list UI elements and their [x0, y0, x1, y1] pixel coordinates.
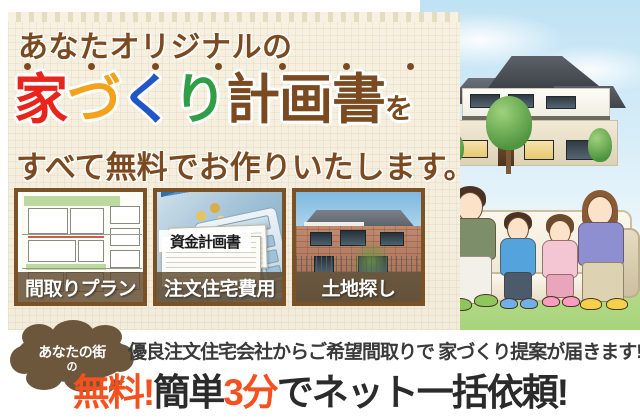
- headline-char-ri: り: [173, 70, 226, 130]
- cta-part-three-minutes: 3分: [223, 372, 277, 413]
- tree-icon: [486, 96, 532, 150]
- feature-card-floor-plan[interactable]: 間取りプラン: [14, 188, 147, 306]
- document-title: 資金計画書: [159, 230, 251, 252]
- emphasis-dot: [343, 63, 350, 70]
- headline-particle-wo: を: [385, 93, 412, 124]
- headline-word-keikakusho: 計画書: [226, 70, 385, 130]
- cta-part-easy: 簡単: [153, 372, 223, 413]
- legs: [546, 274, 574, 298]
- headline-line-3: すべて無料でお作りいたします。: [16, 142, 475, 187]
- emphasis-dot: [407, 63, 414, 70]
- shoe: [520, 298, 538, 309]
- window-icon: [524, 140, 554, 160]
- feature-card-land-search[interactable]: 土地探し: [292, 188, 425, 306]
- torso: [542, 240, 578, 278]
- feature-card-caption: 間取りプラン: [18, 272, 143, 302]
- cta-part-bulk-request: でネット一括依頼!: [277, 372, 567, 413]
- headline-char-du: づ: [67, 70, 120, 130]
- shoe: [500, 298, 518, 309]
- feature-card-build-cost[interactable]: 資金計画書 注文住宅費用: [153, 188, 286, 306]
- emphasis-dot: [279, 63, 286, 70]
- torso: [578, 222, 624, 266]
- window-icon: [546, 96, 576, 109]
- perforated-edge: [8, 12, 460, 22]
- bubble-line-2: の: [16, 358, 128, 374]
- feature-card-list: 間取りプラン 資金計画書 注文住宅費用: [14, 188, 426, 306]
- legs: [504, 272, 532, 300]
- shoe: [562, 296, 580, 307]
- tagline-text: 優良注文住宅会社からご希望間取りで 家づくり提案が届きます!: [128, 337, 634, 364]
- shoe: [542, 296, 560, 307]
- headline-char-ie: 家: [14, 70, 67, 130]
- shoe: [606, 298, 628, 310]
- promo-banner: あなたオリジナルの 家づくり計画書を すべて無料でお作りいたします。: [0, 0, 640, 420]
- cta-text: 無料!簡単3分でネット一括依頼!: [0, 374, 640, 411]
- cta-part-free: 無料!: [73, 372, 153, 413]
- feature-card-caption: 注文住宅費用: [157, 272, 282, 302]
- headline-line-2: 家づくり計画書を: [14, 73, 412, 127]
- tree-icon: [588, 128, 612, 162]
- family-photo: [432, 172, 640, 330]
- feature-card-caption: 土地探し: [296, 272, 421, 302]
- emphasis-dot: [152, 63, 159, 70]
- headline-line-1: あなたオリジナルの: [18, 22, 293, 66]
- shoe: [474, 294, 498, 307]
- shoe: [580, 298, 602, 310]
- torso: [500, 238, 536, 276]
- headline-char-ku: く: [120, 70, 173, 130]
- legs: [582, 262, 624, 302]
- emphasis-dot: [88, 63, 95, 70]
- emphasis-dot: [24, 63, 31, 70]
- emphasis-dot: [215, 63, 222, 70]
